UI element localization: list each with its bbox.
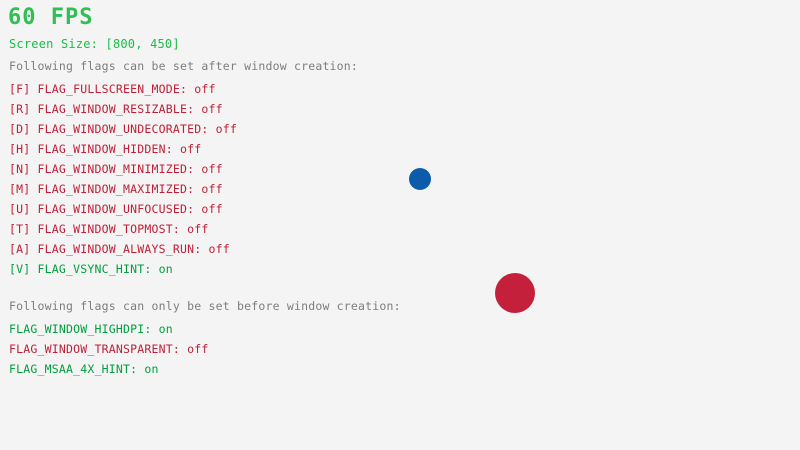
section-note-before-creation: Following flags can only be set before w… [9, 299, 401, 313]
flag-row-flag-window-minimized[interactable]: [N] FLAG_WINDOW_MINIMIZED: off [9, 159, 237, 179]
flag-list-after-creation: [F] FLAG_FULLSCREEN_MODE: off[R] FLAG_WI… [9, 79, 237, 279]
section-note-after-creation: Following flags can be set after window … [9, 59, 358, 73]
flag-row-flag-window-hidden[interactable]: [H] FLAG_WINDOW_HIDDEN: off [9, 139, 237, 159]
raylib-window-canvas: 60 FPS Screen Size: [800, 450] Following… [0, 0, 800, 450]
flag-row-flag-window-resizable[interactable]: [R] FLAG_WINDOW_RESIZABLE: off [9, 99, 237, 119]
flag-row-flag-fullscreen-mode[interactable]: [F] FLAG_FULLSCREEN_MODE: off [9, 79, 237, 99]
flag-row-flag-window-highdpi[interactable]: FLAG_WINDOW_HIGHDPI: on [9, 319, 208, 339]
flag-row-flag-vsync-hint[interactable]: [V] FLAG_VSYNC_HINT: on [9, 259, 237, 279]
flag-row-flag-window-topmost[interactable]: [T] FLAG_WINDOW_TOPMOST: off [9, 219, 237, 239]
fps-counter: 60 FPS [8, 6, 93, 30]
flag-row-flag-msaa-4x-hint[interactable]: FLAG_MSAA_4X_HINT: on [9, 359, 208, 379]
blue-circle-shape [409, 168, 431, 190]
flag-row-flag-window-unfocused[interactable]: [U] FLAG_WINDOW_UNFOCUSED: off [9, 199, 237, 219]
red-circle-shape [495, 273, 535, 313]
flag-row-flag-window-undecorated[interactable]: [D] FLAG_WINDOW_UNDECORATED: off [9, 119, 237, 139]
flag-row-flag-window-always-run[interactable]: [A] FLAG_WINDOW_ALWAYS_RUN: off [9, 239, 237, 259]
flag-row-flag-window-transparent[interactable]: FLAG_WINDOW_TRANSPARENT: off [9, 339, 208, 359]
flag-list-before-creation: FLAG_WINDOW_HIGHDPI: onFLAG_WINDOW_TRANS… [9, 319, 208, 379]
flag-row-flag-window-maximized[interactable]: [M] FLAG_WINDOW_MAXIMIZED: off [9, 179, 237, 199]
screen-size-label: Screen Size: [800, 450] [9, 37, 180, 51]
